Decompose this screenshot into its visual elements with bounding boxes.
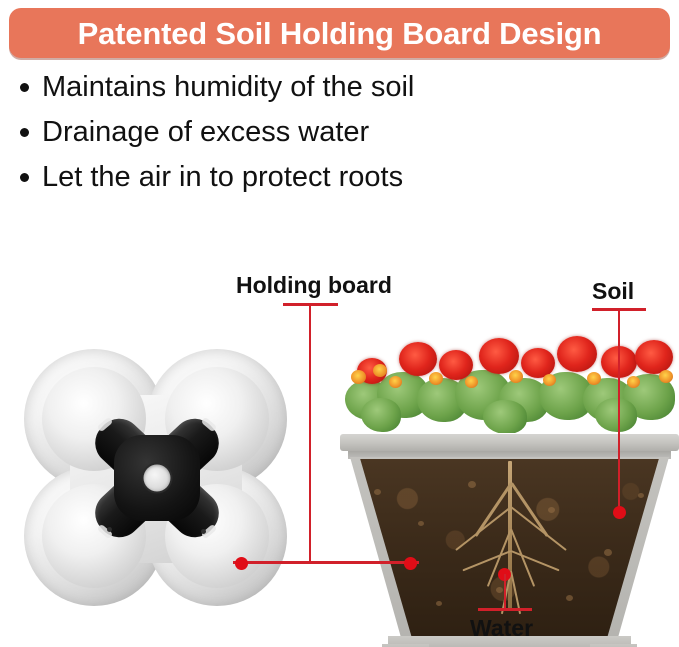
list-item: Drainage of excess water [20, 115, 660, 160]
callout-dot-board-left [235, 557, 248, 570]
flower [439, 350, 473, 380]
leader-line-soil [618, 308, 620, 514]
callout-dot-board-right [404, 557, 417, 570]
accent-flower [543, 374, 556, 386]
callout-label-water: Water [470, 615, 533, 642]
accent-flower [351, 370, 366, 384]
leader-line-holding-board-vertical [309, 303, 311, 563]
callout-label-holding-board: Holding board [236, 272, 392, 299]
list-item: Maintains humidity of the soil [20, 70, 660, 115]
flower [399, 342, 437, 376]
accent-flower [627, 376, 640, 388]
leader-line-holding-board-horizontal [233, 561, 419, 564]
accent-flower [465, 376, 478, 388]
list-item: Let the air in to protect roots [20, 160, 660, 205]
page-title: Patented Soil Holding Board Design [78, 18, 602, 49]
feature-text: Maintains humidity of the soil [42, 70, 414, 104]
leader-line-water [504, 574, 506, 610]
board-vent-hole [107, 527, 112, 532]
callout-dot-soil [613, 506, 626, 519]
accent-flower [659, 370, 673, 383]
header-banner: Patented Soil Holding Board Design [9, 8, 670, 58]
board-vent-hole [201, 529, 206, 534]
drainage-hole-icon [144, 465, 171, 492]
accent-flower [389, 376, 402, 388]
accent-flower [373, 364, 387, 377]
bullet-dot-icon [20, 83, 29, 92]
accent-flower [429, 372, 443, 385]
flower [479, 338, 519, 374]
flower [557, 336, 597, 372]
bullet-dot-icon [20, 128, 29, 137]
callout-label-soil: Soil [592, 278, 634, 305]
infographic-page: Patented Soil Holding Board Design Maint… [0, 0, 679, 647]
planter-rim [340, 434, 679, 451]
feature-text: Drainage of excess water [42, 115, 369, 149]
soil-holding-board [73, 395, 241, 561]
product-diagram: Holding board Soil Water [0, 210, 679, 647]
accent-flower [509, 370, 523, 383]
bullet-dot-icon [20, 173, 29, 182]
accent-flower [587, 372, 601, 385]
feature-text: Let the air in to protect roots [42, 160, 403, 194]
feature-list: Maintains humidity of the soil Drainage … [20, 70, 660, 205]
flower [635, 340, 673, 374]
planter-cross-section [340, 328, 679, 628]
flower-bed [343, 328, 676, 433]
leader-tick-water [478, 608, 532, 611]
holding-board-top-view [18, 345, 293, 610]
